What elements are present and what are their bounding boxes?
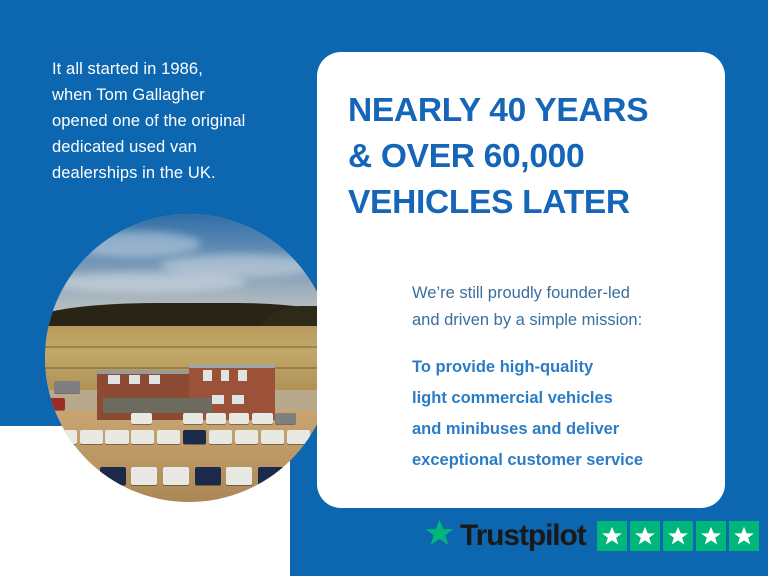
mission-line: and minibuses and deliver [412, 414, 712, 445]
photo-van [45, 398, 65, 410]
intro-text: It all started in 1986, when Tom Gallagh… [52, 56, 302, 186]
rating-star-icon [630, 521, 660, 551]
intro-line: when Tom Gallagher [52, 82, 302, 108]
photo-window [203, 370, 212, 382]
photo-van [54, 381, 80, 393]
mission-statement: To provide high-quality light commercial… [412, 352, 712, 476]
photo-van [68, 467, 94, 484]
dealership-photo [45, 214, 333, 502]
photo-van [252, 413, 272, 425]
photo-van [195, 467, 221, 484]
photo-van [235, 430, 258, 444]
photo-van [131, 467, 157, 484]
rating-star-icon [597, 521, 627, 551]
photo-window [108, 375, 120, 384]
photo-van [157, 430, 180, 444]
photo-window [129, 375, 141, 384]
photo-window [232, 395, 244, 404]
photo-window [221, 370, 230, 382]
photo-van [183, 430, 206, 444]
photo-van [105, 430, 128, 444]
photo-van [163, 467, 189, 484]
intro-line: dealerships in the UK. [52, 160, 302, 186]
photo-van [100, 467, 126, 484]
trustpilot-logo[interactable]: Trustpilot [424, 518, 586, 553]
star-rating [597, 521, 759, 551]
rating-star-icon [696, 521, 726, 551]
photo-van [209, 430, 232, 444]
headline-line: VEHICLES LATER [348, 180, 704, 226]
photo-van [206, 413, 226, 425]
photo-van [131, 413, 151, 425]
photo-window [212, 395, 224, 404]
lede-text: We’re still proudly founder-led and driv… [412, 280, 712, 334]
photo-van [258, 467, 284, 484]
trustpilot-wordmark: Trustpilot [460, 521, 586, 551]
intro-line: opened one of the original [52, 108, 302, 134]
photo-van [131, 430, 154, 444]
mission-line: To provide high-quality [412, 352, 712, 383]
photo-cloud [68, 231, 200, 257]
photo-window [149, 375, 161, 384]
content-card: NEARLY 40 YEARS & OVER 60,000 VEHICLES L… [317, 52, 725, 508]
intro-line: dedicated used van [52, 134, 302, 160]
photo-van [54, 430, 77, 444]
lede-line: We’re still proudly founder-led [412, 280, 712, 307]
rating-star-icon [663, 521, 693, 551]
trustpilot-star-icon [424, 518, 455, 553]
headline-line: & OVER 60,000 [348, 134, 704, 180]
mission-line: light commercial vehicles [412, 383, 712, 414]
photo-van [183, 413, 203, 425]
promo-graphic: It all started in 1986, when Tom Gallagh… [0, 0, 768, 576]
mission-line: exceptional customer service [412, 445, 712, 476]
intro-line: It all started in 1986, [52, 56, 302, 82]
photo-van [287, 430, 310, 444]
photo-field-line [45, 346, 333, 348]
photo-canopy [103, 398, 212, 412]
lede-line: and driven by a simple mission: [412, 307, 712, 334]
photo-window [238, 370, 247, 382]
trustpilot-rating[interactable]: Trustpilot [424, 518, 759, 553]
photo-van [229, 413, 249, 425]
headline-line: NEARLY 40 YEARS [348, 88, 704, 134]
photo-van [80, 430, 103, 444]
photo-van [275, 413, 295, 425]
photo-content [45, 214, 333, 502]
rating-star-icon [729, 521, 759, 551]
photo-van [261, 430, 284, 444]
photo-van [226, 467, 252, 484]
photo-cloud [45, 272, 247, 292]
headline: NEARLY 40 YEARS & OVER 60,000 VEHICLES L… [348, 88, 704, 226]
